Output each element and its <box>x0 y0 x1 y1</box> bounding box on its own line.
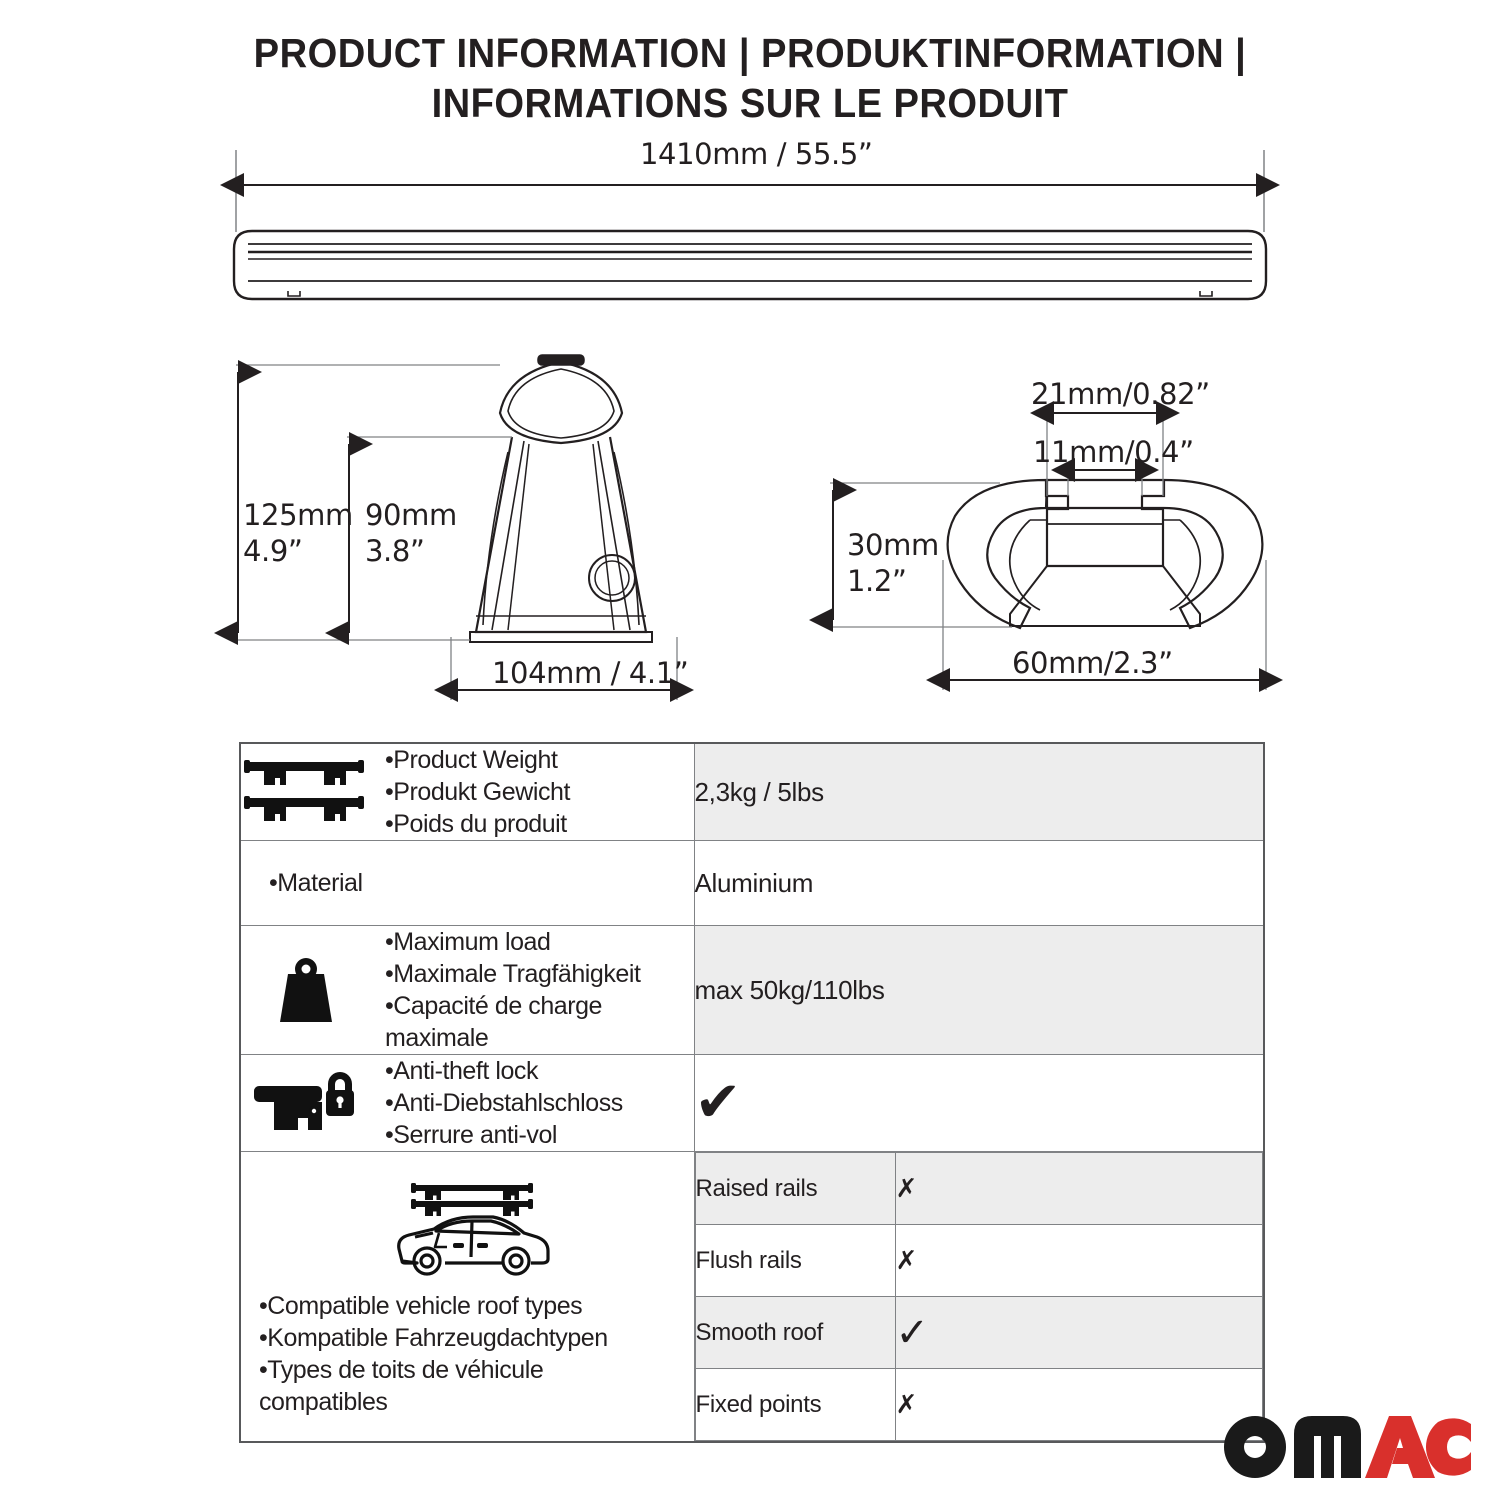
profile-cross-section-drawing <box>948 480 1263 628</box>
cross-icon: ✗ <box>896 1389 918 1419</box>
roof-type-name-smooth-roof: Smooth roof <box>695 1297 895 1369</box>
roof-types-subtable: Raised rails ✗ Flush rails ✗ <box>695 1152 1264 1441</box>
crossbars-icon <box>241 756 371 828</box>
logo-letter-c <box>1426 1418 1471 1475</box>
roof-type-value-flush-rails: ✗ <box>895 1225 1263 1297</box>
row-value-maximum-load: max 50kg/110lbs <box>694 926 1264 1055</box>
table-row-roof-types: •Compatible vehicle roof types •Kompatib… <box>240 1152 1264 1443</box>
row-value-anti-theft-lock: ✔ <box>694 1055 1264 1152</box>
roof-type-name-fixed-points: Fixed points <box>695 1369 895 1441</box>
row-value-product-weight: 2,3kg / 5lbs <box>694 743 1264 841</box>
row-label-text-maximum-load: •Maximum load •Maximale Tragfähigkeit •C… <box>385 926 694 1054</box>
logo-letter-a <box>1365 1416 1435 1478</box>
row-label-text-anti-theft-lock: •Anti-theft lock •Anti-Diebstahlschloss … <box>385 1055 623 1151</box>
row-label-text-material: •Material <box>241 841 694 925</box>
roof-type-value-smooth-roof: ✓ <box>895 1297 1263 1369</box>
foot-side-view-drawing <box>470 355 652 642</box>
profile-width-label: 60mm/2.3” <box>1012 645 1173 681</box>
table-row-maximum-load: •Maximum load •Maximale Tragfähigkeit •C… <box>240 926 1264 1055</box>
table-row-anti-theft-lock: •Anti-theft lock •Anti-Diebstahlschloss … <box>240 1055 1264 1152</box>
anti-theft-check-icon: ✔ <box>695 1070 742 1135</box>
profile-slot-outer-label: 21mm/0.82” <box>1031 376 1210 412</box>
row-label-text-product-weight: •Product Weight •Produkt Gewicht •Poids … <box>385 744 570 840</box>
foot-total-height-label: 125mm 4.9” <box>243 497 353 569</box>
table-row-product-weight: •Product Weight •Produkt Gewicht •Poids … <box>240 743 1264 841</box>
row-label-material: •Material <box>240 841 694 926</box>
roof-type-row-fixed-points: Fixed points ✗ <box>695 1369 1263 1441</box>
row-label-roof-types: •Compatible vehicle roof types •Kompatib… <box>240 1152 694 1443</box>
roof-type-row-flush-rails: Flush rails ✗ <box>695 1225 1263 1297</box>
row-label-maximum-load: •Maximum load •Maximale Tragfähigkeit •C… <box>240 926 694 1055</box>
foot-width-label: 104mm / 4.1” <box>492 655 688 691</box>
roof-type-value-fixed-points: ✗ <box>895 1369 1263 1441</box>
product-spec-table: •Product Weight •Produkt Gewicht •Poids … <box>239 742 1265 1443</box>
foot-inner-height-label: 90mm 3.8” <box>365 497 457 569</box>
roof-type-row-raised-rails: Raised rails ✗ <box>695 1153 1263 1225</box>
roof-type-value-raised-rails: ✗ <box>895 1153 1263 1225</box>
car-with-roofrack-icon <box>259 1175 686 1280</box>
check-icon: ✓ <box>896 1311 929 1355</box>
logo-letter-m <box>1294 1416 1361 1478</box>
lock-icon <box>241 1066 371 1140</box>
crossbar-top-view-drawing <box>234 231 1266 299</box>
omac-logo <box>1222 1412 1474 1486</box>
roof-type-name-flush-rails: Flush rails <box>695 1225 895 1297</box>
table-row-material: •Material Aluminium <box>240 841 1264 926</box>
roof-types-subtable-cell: Raised rails ✗ Flush rails ✗ <box>694 1152 1264 1443</box>
weight-icon <box>241 950 371 1030</box>
cross-icon: ✗ <box>896 1173 918 1203</box>
profile-slot-inner-label: 11mm/0.4” <box>1033 434 1194 470</box>
row-label-anti-theft-lock: •Anti-theft lock •Anti-Diebstahlschloss … <box>240 1055 694 1152</box>
roof-type-name-raised-rails: Raised rails <box>695 1153 895 1225</box>
row-label-text-roof-types: •Compatible vehicle roof types •Kompatib… <box>259 1290 608 1418</box>
cross-icon: ✗ <box>896 1245 918 1275</box>
page-title-line-1: PRODUCT INFORMATION | PRODUKTINFORMATION… <box>53 28 1448 78</box>
top-bar-length-label: 1410mm / 55.5” <box>640 136 873 172</box>
logo-letter-o <box>1224 1416 1286 1478</box>
row-label-product-weight: •Product Weight •Produkt Gewicht •Poids … <box>240 743 694 841</box>
profile-height-label: 30mm 1.2” <box>847 527 939 599</box>
page-title: PRODUCT INFORMATION | PRODUKTINFORMATION… <box>0 28 1500 128</box>
page-title-line-2: INFORMATIONS SUR LE PRODUIT <box>53 78 1448 128</box>
row-value-material: Aluminium <box>694 841 1264 926</box>
roof-type-row-smooth-roof: Smooth roof ✓ <box>695 1297 1263 1369</box>
